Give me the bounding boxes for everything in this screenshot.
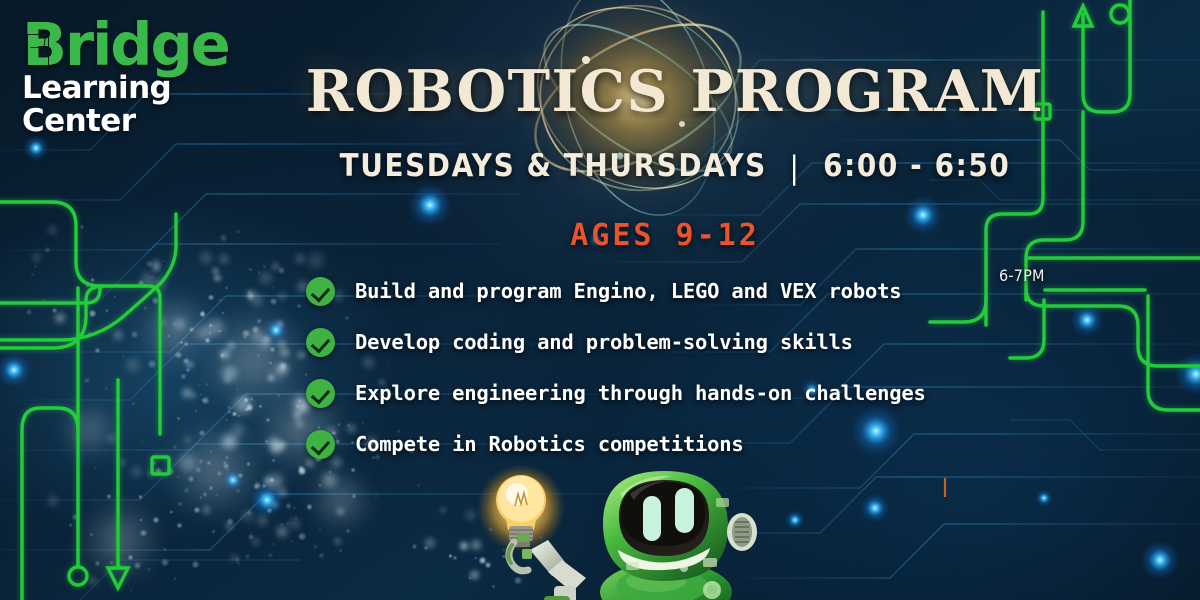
bokeh-particle bbox=[225, 419, 227, 421]
bokeh-particle bbox=[151, 259, 161, 269]
bokeh-particle bbox=[225, 287, 228, 290]
bokeh-particle bbox=[175, 352, 182, 359]
bokeh-particle bbox=[177, 523, 182, 528]
bokeh-particle bbox=[227, 518, 233, 524]
bokeh-particle bbox=[314, 545, 317, 548]
bokeh-particle bbox=[297, 350, 306, 359]
bokeh-particle bbox=[158, 364, 162, 368]
bokeh-particle bbox=[267, 508, 271, 512]
bokeh-halo bbox=[60, 400, 120, 460]
bokeh-particle bbox=[229, 553, 239, 563]
bokeh-particle bbox=[258, 271, 260, 273]
bokeh-particle bbox=[307, 252, 324, 269]
bokeh-particle bbox=[270, 443, 282, 455]
bokeh-particle bbox=[159, 317, 169, 327]
bokeh-particle bbox=[132, 402, 135, 405]
bokeh-particle bbox=[203, 492, 207, 496]
bokeh-particle bbox=[223, 463, 229, 469]
bokeh-particle bbox=[270, 347, 275, 352]
bokeh-particle bbox=[275, 525, 288, 538]
bokeh-particle bbox=[223, 433, 238, 448]
bokeh-particle bbox=[279, 362, 287, 370]
bokeh-particle bbox=[246, 404, 253, 411]
bokeh-particle bbox=[163, 260, 165, 262]
bokeh-particle bbox=[294, 253, 306, 265]
bokeh-particle bbox=[339, 549, 342, 552]
bokeh-particle bbox=[250, 328, 265, 343]
bokeh-particle bbox=[266, 473, 283, 490]
bokeh-particle bbox=[194, 507, 200, 513]
bokeh-particle bbox=[257, 319, 260, 322]
bokeh-particle bbox=[228, 411, 231, 414]
bokeh-particle bbox=[147, 469, 156, 478]
bokeh-particle bbox=[256, 514, 269, 527]
bokeh-particle bbox=[142, 440, 144, 442]
feature-list: Build and program Engino, LEGO and VEX r… bbox=[306, 275, 1006, 479]
bokeh-particle bbox=[114, 296, 116, 298]
bokeh-particle bbox=[281, 523, 284, 526]
bokeh-particle bbox=[273, 286, 275, 288]
bokeh-particle bbox=[267, 436, 281, 450]
bokeh-particle bbox=[295, 517, 297, 519]
bokeh-particle bbox=[298, 467, 306, 475]
bokeh-particle bbox=[270, 478, 274, 482]
bokeh-particle bbox=[173, 323, 176, 326]
bokeh-particle bbox=[208, 295, 214, 301]
bokeh-particle bbox=[192, 561, 199, 568]
bokeh-particle bbox=[227, 406, 231, 410]
bokeh-particle bbox=[298, 465, 304, 471]
bokeh-particle bbox=[102, 328, 106, 332]
bokeh-particle bbox=[178, 502, 182, 506]
bokeh-particle bbox=[266, 418, 270, 422]
bokeh-particle bbox=[117, 564, 122, 569]
bokeh-particle bbox=[139, 495, 143, 499]
bokeh-particle bbox=[183, 435, 193, 445]
bokeh-particle bbox=[254, 482, 261, 489]
bokeh-particle bbox=[278, 267, 285, 274]
bokeh-particle bbox=[245, 408, 248, 411]
side-time-note: 6-7PM bbox=[999, 266, 1045, 285]
bokeh-particle bbox=[288, 517, 301, 530]
bokeh-particle bbox=[221, 365, 238, 382]
bokeh-particle bbox=[130, 590, 132, 592]
bokeh-particle bbox=[106, 433, 117, 444]
bokeh-particle bbox=[298, 533, 306, 541]
bokeh-particle bbox=[333, 537, 342, 546]
bokeh-particle bbox=[238, 415, 240, 417]
bokeh-particle bbox=[276, 440, 287, 451]
bokeh-particle bbox=[271, 262, 280, 271]
bokeh-particle bbox=[88, 332, 90, 334]
bokeh-particle bbox=[223, 376, 231, 384]
bokeh-particle bbox=[223, 461, 226, 464]
bokeh-particle bbox=[195, 410, 197, 412]
bokeh-particle bbox=[128, 555, 133, 560]
bokeh-particle bbox=[184, 342, 188, 346]
bokeh-particle bbox=[242, 330, 249, 337]
bokeh-particle bbox=[277, 487, 288, 498]
bokeh-particle bbox=[291, 540, 293, 542]
bokeh-particle bbox=[262, 484, 266, 488]
bokeh-particle bbox=[173, 317, 187, 331]
bokeh-particle bbox=[207, 461, 211, 465]
bokeh-particle bbox=[31, 252, 42, 263]
bokeh-particle bbox=[107, 494, 111, 498]
bokeh-halo bbox=[163, 418, 267, 522]
bokeh-particle bbox=[263, 476, 273, 486]
bokeh-particle bbox=[250, 398, 253, 401]
bokeh-particle bbox=[184, 488, 189, 493]
bokeh-particle bbox=[199, 251, 213, 265]
bokeh-particle bbox=[140, 272, 155, 287]
bokeh-particle bbox=[26, 309, 32, 315]
bokeh-particle bbox=[298, 399, 301, 402]
ages-label: AGES 9-12 bbox=[0, 218, 1200, 253]
bokeh-particle bbox=[293, 507, 295, 509]
bokeh-particle bbox=[151, 276, 154, 279]
bokeh-particle bbox=[105, 387, 107, 389]
bokeh-particle bbox=[83, 319, 85, 321]
bokeh-particle bbox=[183, 358, 189, 364]
bokeh-particle bbox=[177, 476, 180, 479]
bokeh-particle bbox=[34, 265, 37, 268]
bokeh-particle bbox=[161, 559, 169, 567]
bokeh-particle bbox=[249, 292, 264, 307]
bokeh-particle bbox=[247, 462, 251, 466]
bokeh-particle bbox=[189, 327, 194, 332]
bokeh-particle bbox=[240, 395, 251, 406]
bokeh-particle bbox=[91, 278, 94, 281]
bokeh-particle bbox=[202, 505, 212, 515]
bokeh-particle bbox=[206, 383, 209, 386]
bokeh-particle bbox=[95, 348, 100, 353]
bokeh-particle bbox=[220, 434, 236, 450]
bokeh-particle bbox=[417, 484, 419, 486]
bokeh-particle bbox=[220, 353, 225, 358]
bokeh-particle bbox=[138, 280, 144, 286]
feature-item: Compete in Robotics competitions bbox=[306, 428, 1006, 460]
bokeh-particle bbox=[88, 576, 98, 586]
bokeh-particle bbox=[199, 459, 204, 464]
bokeh-particle bbox=[47, 495, 59, 507]
bokeh-particle bbox=[233, 396, 252, 415]
poster-canvas: Bridge Learning Center ROBOTICS PROGRAM … bbox=[0, 0, 1200, 600]
bokeh-particle bbox=[185, 360, 194, 369]
bokeh-particle bbox=[152, 461, 156, 465]
bokeh-particle bbox=[186, 368, 190, 372]
bokeh-particle bbox=[152, 297, 159, 304]
bokeh-particle bbox=[174, 577, 176, 579]
bokeh-particle bbox=[276, 362, 288, 374]
bokeh-particle bbox=[222, 312, 224, 314]
bokeh-particle bbox=[263, 265, 266, 268]
bokeh-particle bbox=[236, 489, 240, 493]
bokeh-particle bbox=[286, 503, 292, 509]
feature-item: Develop coding and problem-solving skill… bbox=[306, 326, 1006, 358]
bokeh-particle bbox=[226, 468, 229, 471]
bokeh-particle bbox=[134, 562, 141, 569]
schedule-days: TUESDAYS & THURSDAYS bbox=[340, 148, 767, 184]
bokeh-particle bbox=[218, 330, 220, 332]
check-circle-icon bbox=[306, 277, 335, 306]
bokeh-particle bbox=[272, 459, 275, 462]
bokeh-particle bbox=[294, 418, 305, 429]
bokeh-particle bbox=[216, 494, 218, 496]
bokeh-particle bbox=[230, 422, 246, 438]
bokeh-particle bbox=[210, 450, 212, 452]
schedule-time: 6:00 - 6:50 bbox=[823, 148, 1010, 184]
bokeh-particle bbox=[206, 318, 225, 337]
bokeh-particle bbox=[319, 553, 324, 558]
bokeh-particle bbox=[238, 473, 243, 478]
bokeh-particle bbox=[439, 506, 447, 514]
bokeh-particle bbox=[146, 261, 152, 267]
bokeh-particle bbox=[259, 271, 273, 285]
bokeh-particle bbox=[96, 300, 98, 302]
bokeh-particle bbox=[209, 332, 211, 334]
bokeh-particle bbox=[54, 312, 66, 324]
bokeh-particle bbox=[244, 398, 248, 402]
bokeh-particle bbox=[232, 412, 237, 417]
bokeh-halo bbox=[76, 496, 164, 584]
bokeh-particle bbox=[251, 537, 261, 547]
bokeh-particle bbox=[453, 556, 457, 560]
bokeh-particle bbox=[276, 320, 284, 328]
bokeh-particle bbox=[218, 253, 229, 264]
bokeh-particle bbox=[72, 514, 78, 520]
bokeh-particle bbox=[247, 511, 252, 516]
bokeh-particle bbox=[319, 528, 321, 530]
feature-text: Build and program Engino, LEGO and VEX r… bbox=[355, 279, 901, 303]
bokeh-particle bbox=[173, 445, 176, 448]
bokeh-particle bbox=[198, 384, 200, 386]
bokeh-particle bbox=[200, 311, 206, 317]
bokeh-particle bbox=[200, 393, 202, 395]
bokeh-particle bbox=[268, 553, 273, 558]
logo-brand-rest: ridge bbox=[65, 10, 229, 79]
bokeh-particle bbox=[272, 543, 274, 545]
bokeh-particle bbox=[144, 306, 147, 309]
feature-text: Compete in Robotics competitions bbox=[355, 432, 744, 456]
bokeh-particle bbox=[271, 501, 279, 509]
bokeh-halo bbox=[197, 302, 313, 418]
bokeh-particle bbox=[177, 417, 180, 420]
bokeh-particle bbox=[252, 326, 259, 333]
bokeh-particle bbox=[200, 496, 202, 498]
bokeh-particle bbox=[202, 399, 204, 401]
logo-line-center: Center bbox=[22, 106, 229, 138]
bokeh-particle bbox=[219, 349, 230, 360]
bokeh-particle bbox=[42, 299, 44, 301]
bokeh-particle bbox=[279, 347, 290, 358]
bokeh-particle bbox=[153, 517, 159, 523]
bokeh-particle bbox=[196, 467, 201, 472]
check-circle-icon bbox=[306, 430, 335, 459]
bokeh-particle bbox=[95, 561, 100, 566]
bokeh-particle bbox=[94, 467, 96, 469]
check-circle-icon bbox=[306, 379, 335, 408]
bokeh-particle bbox=[164, 548, 166, 550]
bokeh-particle bbox=[424, 546, 428, 550]
bokeh-particle bbox=[140, 519, 142, 521]
bokeh-particle bbox=[209, 324, 212, 327]
feature-item: Build and program Engino, LEGO and VEX r… bbox=[306, 275, 1006, 307]
bokeh-particle bbox=[336, 507, 345, 516]
bokeh-particle bbox=[296, 405, 299, 408]
bokeh-particle bbox=[189, 391, 198, 400]
bokeh-particle bbox=[152, 276, 167, 291]
bokeh-particle bbox=[268, 366, 285, 383]
bokeh-particle bbox=[258, 338, 271, 351]
bokeh-particle bbox=[181, 387, 193, 399]
bokeh-particle bbox=[352, 494, 356, 498]
bokeh-particle bbox=[140, 530, 146, 536]
bokeh-particle bbox=[180, 341, 182, 343]
bokeh-particle bbox=[245, 289, 256, 300]
bokeh-particle bbox=[265, 440, 268, 443]
bokeh-particle bbox=[152, 263, 162, 273]
bokeh-particle bbox=[199, 430, 205, 436]
bokeh-particle bbox=[292, 410, 302, 420]
brand-logo: Bridge Learning Center bbox=[22, 18, 229, 137]
bokeh-particle bbox=[270, 298, 277, 305]
schedule-line: TUESDAYS & THURSDAYS | 6:00 - 6:50 bbox=[0, 148, 1200, 184]
bokeh-particle bbox=[262, 335, 271, 344]
bokeh-particle bbox=[86, 284, 89, 287]
bokeh-particle bbox=[125, 357, 141, 373]
bokeh-particle bbox=[287, 522, 289, 524]
bokeh-particle bbox=[254, 485, 257, 488]
bokeh-particle bbox=[130, 465, 142, 477]
bokeh-particle bbox=[50, 492, 52, 494]
bokeh-particle bbox=[259, 405, 261, 407]
bokeh-particle bbox=[245, 554, 250, 559]
bokeh-particle bbox=[449, 554, 453, 558]
bokeh-particle bbox=[277, 291, 288, 302]
bokeh-particle bbox=[31, 273, 33, 275]
schedule-separator: | bbox=[789, 150, 800, 186]
logo-b-glyph: B bbox=[22, 18, 65, 72]
bokeh-particle bbox=[277, 339, 288, 350]
bokeh-particle bbox=[213, 274, 221, 282]
check-circle-icon bbox=[306, 328, 335, 357]
bokeh-particle bbox=[247, 292, 254, 299]
bokeh-particle bbox=[217, 471, 222, 476]
bokeh-particle bbox=[155, 468, 162, 475]
bokeh-particle bbox=[297, 304, 301, 308]
bokeh-particle bbox=[131, 331, 138, 338]
bokeh-particle bbox=[69, 523, 72, 526]
bokeh-particle bbox=[181, 374, 186, 379]
bokeh-particle bbox=[209, 486, 213, 490]
bokeh-particle bbox=[249, 268, 252, 271]
bokeh-particle bbox=[84, 378, 89, 383]
bokeh-particle bbox=[148, 360, 156, 368]
bokeh-particle bbox=[211, 267, 219, 275]
bokeh-particle bbox=[257, 354, 259, 356]
bokeh-particle bbox=[148, 568, 150, 570]
bokeh-particle bbox=[244, 336, 247, 339]
bokeh-particle bbox=[248, 291, 250, 293]
bokeh-particle bbox=[241, 509, 255, 523]
bokeh-particle bbox=[269, 362, 271, 364]
feature-text: Develop coding and problem-solving skill… bbox=[355, 330, 853, 354]
bokeh-particle bbox=[167, 468, 174, 475]
bokeh-particle bbox=[278, 394, 281, 397]
bokeh-particle bbox=[346, 529, 350, 533]
bokeh-particle bbox=[122, 355, 124, 357]
bokeh-particle bbox=[307, 504, 312, 509]
logo-brand-line: Bridge bbox=[22, 18, 229, 72]
bokeh-particle bbox=[224, 521, 234, 531]
bokeh-particle bbox=[167, 335, 169, 337]
bokeh-halo bbox=[135, 290, 215, 370]
bokeh-particle bbox=[89, 310, 96, 317]
bokeh-particle bbox=[219, 299, 221, 301]
feature-item: Explore engineering through hands-on cha… bbox=[306, 377, 1006, 409]
bokeh-particle bbox=[459, 541, 469, 551]
bokeh-particle bbox=[226, 456, 228, 458]
bokeh-particle bbox=[178, 453, 197, 472]
bokeh-particle bbox=[412, 544, 417, 549]
bokeh-particle bbox=[90, 533, 93, 536]
bokeh-particle bbox=[205, 338, 210, 343]
bokeh-particle bbox=[112, 329, 124, 341]
bokeh-particle bbox=[375, 495, 377, 497]
feature-text: Explore engineering through hands-on cha… bbox=[355, 381, 926, 405]
bokeh-particle bbox=[52, 308, 57, 313]
bokeh-particle bbox=[236, 388, 239, 391]
bokeh-particle bbox=[110, 561, 113, 564]
bokeh-particle bbox=[202, 397, 209, 404]
bokeh-particle bbox=[319, 484, 321, 486]
bokeh-particle bbox=[226, 341, 236, 351]
bokeh-particle bbox=[235, 557, 240, 562]
bokeh-particle bbox=[188, 476, 194, 482]
bokeh-particle bbox=[106, 309, 108, 311]
bokeh-particle bbox=[248, 534, 254, 540]
bokeh-particle bbox=[118, 458, 127, 467]
bokeh-particle bbox=[212, 530, 215, 533]
bokeh-particle bbox=[195, 324, 213, 342]
bokeh-particle bbox=[170, 511, 172, 513]
bokeh-particle bbox=[267, 374, 275, 382]
bokeh-particle bbox=[237, 562, 239, 564]
bokeh-particle bbox=[251, 532, 253, 534]
bokeh-particle bbox=[424, 537, 436, 549]
